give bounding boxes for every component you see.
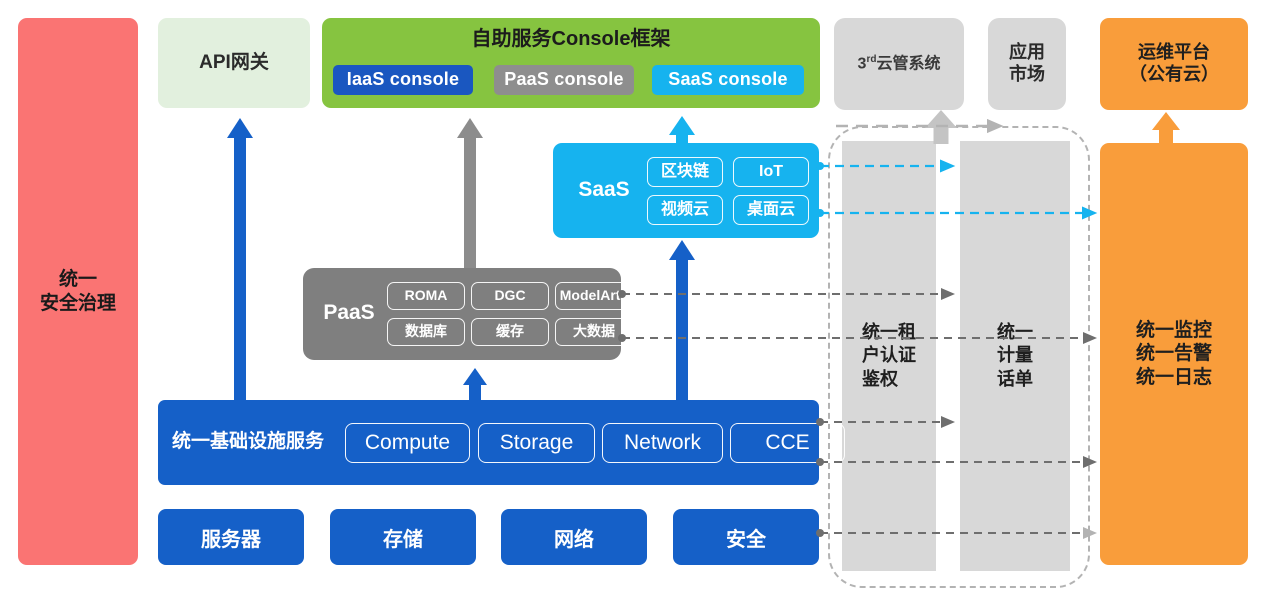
api-gateway-box[interactable]: API网关 (158, 18, 310, 108)
ops-platform-body-label: 统一监控 统一告警 统一日志 (1136, 319, 1212, 389)
iaas-to-saas-up-arrow (668, 240, 696, 402)
iaas-service-network[interactable]: Network (602, 423, 723, 463)
api-gateway-up-arrow (226, 118, 254, 400)
third-party-cloud-mgmt-box[interactable]: 3rd云管系统 (834, 18, 964, 110)
hardware-server-label: 服务器 (201, 523, 261, 552)
saas-service-iot[interactable]: IoT (733, 157, 809, 187)
iaas-service-compute-label: Compute (365, 430, 450, 456)
saas-service-desktop-cloud[interactable]: 桌面云 (733, 195, 809, 225)
iaas-to-paas-up-arrow (463, 368, 487, 402)
third-party-up-arrow (925, 110, 957, 144)
unified-metering-label: 统一 计量 话单 (997, 321, 1033, 390)
paas-service-cache[interactable]: 缓存 (471, 318, 549, 346)
paas-service-modelarts[interactable]: ModelArts (555, 282, 633, 310)
paas-console-label: PaaS console (504, 69, 623, 91)
third-party-superscript: rd (866, 54, 876, 65)
saas-console-up-arrow (668, 116, 696, 146)
ops-platform-header-box[interactable]: 运维平台 （公有云） (1100, 18, 1248, 110)
saas-service-blockchain[interactable]: 区块链 (647, 157, 723, 187)
paas-console-chip[interactable]: PaaS console (494, 65, 634, 95)
paas-service-database[interactable]: 数据库 (387, 318, 465, 346)
hardware-network-box[interactable]: 网络 (501, 509, 647, 565)
paas-service-bigdata-label: 大数据 (573, 323, 615, 340)
iaas-console-chip[interactable]: IaaS console (333, 65, 473, 95)
saas-console-chip[interactable]: SaaS console (652, 65, 804, 95)
saas-console-label: SaaS console (668, 69, 787, 91)
iaas-service-cce-label: CCE (765, 430, 809, 456)
unified-metering-column[interactable]: 统一 计量 话单 (960, 141, 1070, 571)
saas-layer-box[interactable]: SaaS 区块链 IoT 视频云 桌面云 (553, 143, 819, 238)
ops-platform-up-arrow (1152, 112, 1180, 144)
paas-layer-box[interactable]: PaaS ROMA DGC ModelArts 数据库 缓存 大数据 (303, 268, 621, 360)
paas-service-database-label: 数据库 (405, 323, 447, 340)
ops-platform-body-box[interactable]: 统一监控 统一告警 统一日志 (1100, 143, 1248, 565)
saas-service-iot-label: IoT (759, 162, 783, 182)
saas-service-blockchain-label: 区块链 (661, 162, 709, 182)
hardware-security-label: 安全 (726, 523, 766, 552)
paas-console-up-arrow (456, 118, 484, 268)
app-market-label: 应用 市场 (1009, 42, 1045, 86)
security-governance-label: 统一 安全治理 (40, 268, 116, 314)
security-governance-panel[interactable]: 统一 安全治理 (18, 18, 138, 565)
hardware-server-box[interactable]: 服务器 (158, 509, 304, 565)
iaas-layer-label: 统一基础设施服务 (172, 430, 324, 453)
paas-service-dgc-label: DGC (494, 287, 525, 304)
saas-layer-label: SaaS (565, 177, 643, 203)
unified-tenant-auth-column[interactable]: 统一租 户认证 鉴权 (842, 141, 936, 571)
paas-service-dgc[interactable]: DGC (471, 282, 549, 310)
unified-tenant-auth-label: 统一租 户认证 鉴权 (862, 321, 916, 390)
architecture-diagram: 统一 安全治理 API网关 自助服务Console框架 IaaS console… (0, 0, 1265, 605)
iaas-service-storage-label: Storage (500, 430, 574, 456)
console-framework-box[interactable]: 自助服务Console框架 IaaS console PaaS console … (322, 18, 820, 108)
iaas-service-cce[interactable]: CCE (730, 423, 845, 463)
hardware-network-label: 网络 (554, 523, 594, 552)
hardware-storage-box[interactable]: 存储 (330, 509, 476, 565)
iaas-service-network-label: Network (624, 430, 701, 456)
paas-service-bigdata[interactable]: 大数据 (555, 318, 633, 346)
paas-service-roma-label: ROMA (405, 287, 448, 304)
hardware-storage-label: 存储 (383, 523, 423, 552)
saas-service-desktop-cloud-label: 桌面云 (747, 200, 795, 220)
ops-platform-header-label: 运维平台 （公有云） (1129, 42, 1219, 86)
paas-service-roma[interactable]: ROMA (387, 282, 465, 310)
console-framework-title: 自助服务Console框架 (322, 27, 820, 51)
paas-service-modelarts-label: ModelArts (560, 287, 628, 304)
saas-service-video-cloud-label: 视频云 (661, 200, 709, 220)
api-gateway-label: API网关 (199, 51, 269, 74)
saas-service-video-cloud[interactable]: 视频云 (647, 195, 723, 225)
paas-layer-label: PaaS (311, 300, 387, 326)
iaas-console-label: IaaS console (347, 69, 459, 91)
iaas-layer-box[interactable]: 统一基础设施服务 Compute Storage Network CCE (158, 400, 819, 485)
app-market-box[interactable]: 应用 市场 (988, 18, 1066, 110)
hardware-security-box[interactable]: 安全 (673, 509, 819, 565)
iaas-service-compute[interactable]: Compute (345, 423, 470, 463)
third-party-label: 3rd云管系统 (858, 54, 941, 74)
paas-service-cache-label: 缓存 (496, 323, 524, 340)
iaas-service-storage[interactable]: Storage (478, 423, 595, 463)
